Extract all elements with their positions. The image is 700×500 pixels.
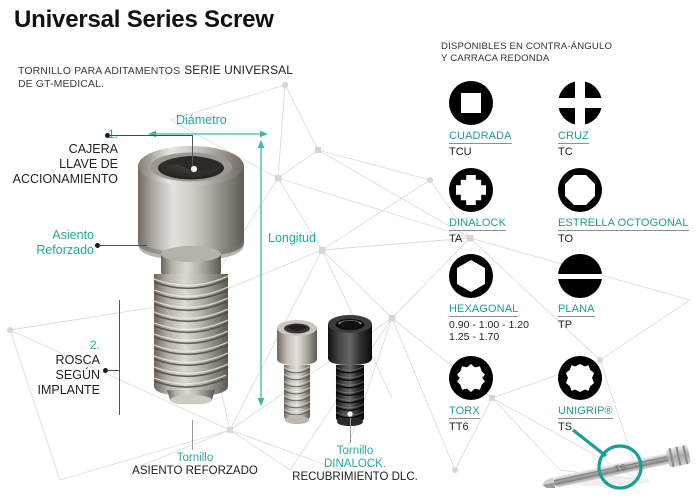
caption-left-line2: ASIENTO REFORZADO <box>100 465 290 478</box>
intro-line1-b: SERIE UNIVERSAL <box>184 63 293 77</box>
driver-name: HEXAGONAL <box>449 303 518 317</box>
driver-name: ESTRELLA OCTOGONAL <box>558 217 689 231</box>
caption-left-line1: Tornillo <box>100 452 290 465</box>
driver-code: TA <box>449 233 557 245</box>
callout-cajera-number: 1. <box>0 127 118 142</box>
caption-right-leader <box>350 418 351 443</box>
driver-item-estrella-octogonal[interactable]: ESTRELLA OCTOGONAL TO <box>558 168 698 245</box>
driver-code: TP <box>558 319 666 331</box>
driver-item-hexagonal[interactable]: HEXAGONAL 0.90 - 1.00 - 1.20 1.25 - 1.70 <box>449 254 557 343</box>
driver-sizes-line2: 1.25 - 1.70 <box>449 331 557 343</box>
drivers-panel-heading: DISPONIBLES EN CONTRA-ÁNGULO Y CARRACA R… <box>441 41 612 65</box>
driver-name: UNIGRIP® <box>558 405 613 419</box>
small-screw-steel-illustration <box>271 312 323 430</box>
diameter-label: Diámetro <box>176 113 227 127</box>
poster-canvas: Universal Series Screw TORNILLO PARA ADI… <box>0 0 700 500</box>
caption-asiento-reforzado: Tornillo ASIENTO REFORZADO <box>100 452 290 478</box>
flat-slot-socket-icon <box>558 254 602 298</box>
intro-line2: DE GT-MEDICAL. <box>18 78 293 91</box>
square-socket-icon <box>449 81 493 125</box>
caption-left-leader <box>192 420 193 450</box>
caption-right-line2: DINALOCK. <box>270 458 440 471</box>
caption-right-line1: Tornillo <box>270 445 440 458</box>
small-screw-dinalock-illustration <box>322 306 378 432</box>
drivers-heading-line2: Y CARRACA REDONDA <box>441 53 612 65</box>
main-screw-illustration <box>128 132 254 404</box>
driver-sizes-line1: 0.90 - 1.00 - 1.20 <box>449 319 557 331</box>
driver-code: TC <box>558 146 666 158</box>
length-label: Longitud <box>268 231 316 245</box>
driver-name: DINALOCK <box>449 217 506 231</box>
driver-item-cuadrada[interactable]: CUADRADA TCU <box>449 81 557 158</box>
driver-name: CUADRADA <box>449 130 512 144</box>
callout-rosca-line1: ROSCA <box>0 353 100 368</box>
dinalock-socket-icon <box>449 168 493 212</box>
callout-asiento-line2: Reforzado <box>0 243 94 258</box>
callout-cajera-leader-drop <box>192 135 193 166</box>
driver-item-cruz[interactable]: CRUZ TC <box>558 81 666 158</box>
driver-name: TORX <box>449 405 480 419</box>
driver-code: TCU <box>449 146 557 158</box>
callout-rosca-number: 2. <box>0 338 100 353</box>
callout-asiento: Asiento Reforzado <box>0 228 94 258</box>
driver-name: PLANA <box>558 303 595 317</box>
callout-rosca-line3: IMPLANTE <box>0 383 100 398</box>
callout-asiento-leader <box>99 245 147 246</box>
caption-dinalock: Tornillo DINALOCK. RECUBRIMIENTO DLC. <box>270 445 440 484</box>
callout-rosca: 2. ROSCA SEGÚN IMPLANTE <box>0 338 100 398</box>
driver-item-plana[interactable]: PLANA TP <box>558 254 666 331</box>
hexagon-socket-icon <box>449 254 493 298</box>
cross-socket-icon <box>558 81 602 125</box>
diameter-arrow <box>148 128 268 140</box>
octagon-socket-icon <box>558 168 602 212</box>
intro-caption: TORNILLO PARA ADITAMENTOSSERIE UNIVERSAL… <box>18 64 293 91</box>
callout-rosca-bracket <box>119 300 120 415</box>
page-title: Universal Series Screw <box>14 6 274 34</box>
callout-cajera: 1. CAJERA LLAVE DE ACCIONAMIENTO <box>0 127 118 187</box>
unigrip-socket-icon <box>558 356 602 400</box>
driver-name: CRUZ <box>558 130 589 144</box>
callout-rosca-line2: SEGÚN <box>0 368 100 383</box>
torx-socket-icon <box>449 356 493 400</box>
intro-line1-a: TORNILLO PARA ADITAMENTOS <box>18 65 180 77</box>
driver-item-dinalock[interactable]: DINALOCK TA <box>449 168 557 245</box>
unigrip-driver-photo: TS <box>540 425 700 495</box>
length-arrow <box>255 140 267 406</box>
callout-cajera-leader <box>109 135 193 136</box>
driver-item-unigrip[interactable]: UNIGRIP® TS <box>558 356 666 433</box>
drivers-heading-line1: DISPONIBLES EN CONTRA-ÁNGULO <box>441 41 612 53</box>
caption-right-line3: RECUBRIMIENTO DLC. <box>270 471 440 484</box>
driver-code: TO <box>558 233 698 245</box>
callout-cajera-line1: CAJERA <box>0 142 118 157</box>
callout-cajera-line3: ACCIONAMIENTO <box>0 172 118 187</box>
callout-asiento-line1: Asiento <box>0 228 94 243</box>
callout-cajera-line2: LLAVE DE <box>0 157 118 172</box>
driver-item-torx[interactable]: TORX TT6 <box>449 356 557 433</box>
